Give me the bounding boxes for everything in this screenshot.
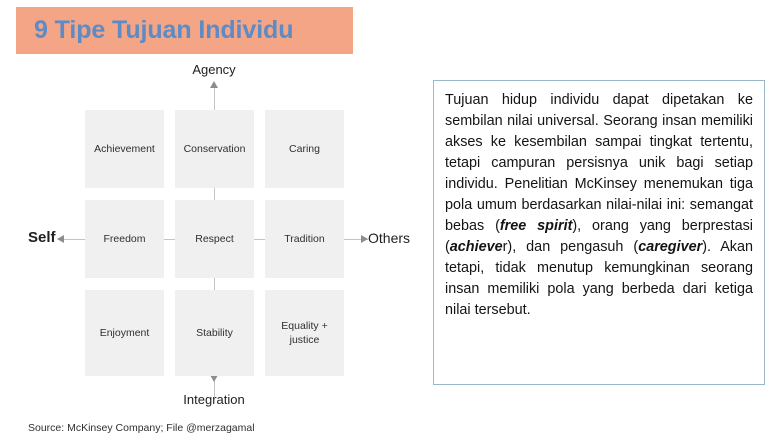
- value-box-tradition[interactable]: Tradition: [265, 200, 344, 278]
- value-box-respect[interactable]: Respect: [175, 200, 254, 278]
- title-banner: 9 Tipe Tujuan Individu: [16, 7, 353, 54]
- value-box-caring[interactable]: Caring: [265, 110, 344, 188]
- value-box-conservation[interactable]: Conservation: [175, 110, 254, 188]
- axis-label-self: Self: [28, 229, 56, 246]
- axis-label-others: Others: [368, 230, 410, 246]
- nine-values-diagram: Agency Integration Self Others Achieveme…: [0, 55, 425, 410]
- arrowhead-left-icon: [57, 235, 64, 243]
- arrowhead-up-icon: [210, 81, 218, 88]
- description-panel: Tujuan hidup individu dapat dipetakan ke…: [433, 80, 765, 385]
- arrowhead-right-icon: [361, 235, 368, 243]
- value-box-equality-justice[interactable]: Equality + justice: [265, 290, 344, 376]
- page-title: 9 Tipe Tujuan Individu: [34, 16, 293, 45]
- source-credit: Source: McKinsey Company; File @merzagam…: [28, 422, 255, 434]
- value-box-stability[interactable]: Stability: [175, 290, 254, 376]
- description-paragraph: Tujuan hidup individu dapat dipetakan ke…: [445, 90, 753, 320]
- value-box-achievement[interactable]: Achievement: [85, 110, 164, 188]
- axis-label-agency: Agency: [164, 62, 264, 77]
- value-grid: Achievement Conservation Caring Freedom …: [85, 110, 344, 428]
- value-box-freedom[interactable]: Freedom: [85, 200, 164, 278]
- value-box-enjoyment[interactable]: Enjoyment: [85, 290, 164, 376]
- connector-agency-vertical: [214, 87, 215, 110]
